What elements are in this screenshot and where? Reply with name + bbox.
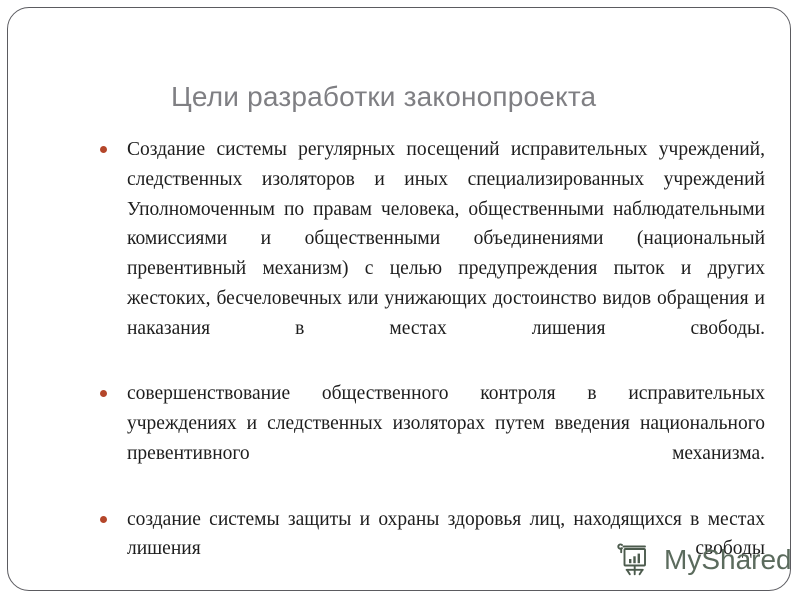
- list-item-text: Создание системы регулярных посещений ис…: [127, 135, 765, 373]
- myshared-watermark: MyShared: [614, 539, 791, 581]
- bullet-list: Создание системы регулярных посещений ис…: [93, 135, 765, 591]
- list-item: Создание системы регулярных посещений ис…: [93, 135, 765, 373]
- list-item: совершенствование общественного контроля…: [93, 379, 765, 498]
- list-item-text: совершенствование общественного контроля…: [127, 379, 765, 498]
- bullet-dot-icon: [100, 390, 107, 397]
- presentation-chart-easel-icon: [614, 539, 656, 581]
- slide-canvas: Цели разработки законопроекта Создание с…: [7, 7, 791, 591]
- bullet-dot-icon: [100, 146, 107, 153]
- myshared-label: MyShared: [664, 545, 791, 575]
- page-title: Цели разработки законопроекта: [171, 80, 771, 114]
- bullet-dot-icon: [100, 516, 107, 523]
